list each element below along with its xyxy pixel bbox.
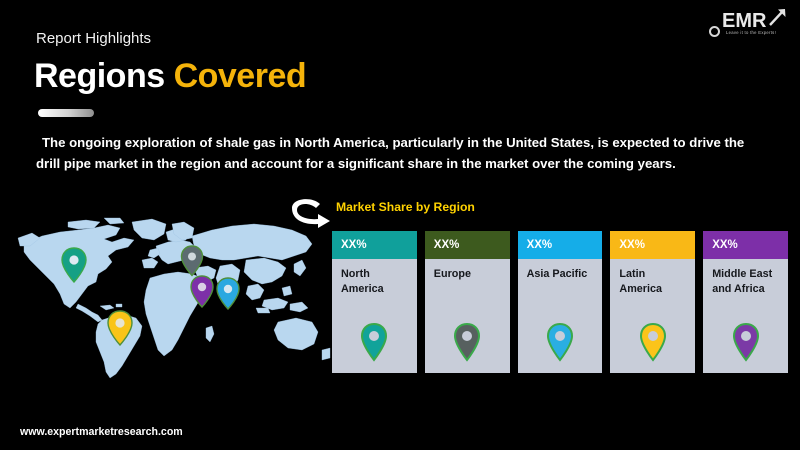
card-region-name: Asia Pacific — [518, 259, 603, 282]
map-pin-icon — [731, 322, 761, 362]
region-card-europe[interactable]: XX% Europe — [425, 231, 510, 373]
card-region-name: Middle East and Africa — [703, 259, 788, 297]
curved-arrow-icon — [286, 196, 334, 232]
region-card-latin-america[interactable]: XX% Latin America — [610, 231, 695, 373]
region-cards: XX% North America XX% Europe XX% Asia Pa — [332, 231, 788, 373]
logo-ring-icon — [709, 26, 720, 37]
map-landmasses — [18, 218, 330, 378]
map-pin-asia-pacific[interactable] — [217, 278, 239, 309]
page-title-accent: Covered — [174, 57, 307, 95]
card-pin-wrap — [703, 322, 788, 373]
slide-root: EMR Leave it to the Experts! Report High… — [0, 0, 800, 450]
card-share-header: XX% — [332, 231, 417, 259]
card-pin-wrap — [332, 322, 417, 373]
logo-arrow-icon — [766, 6, 788, 28]
logo-tagline: Leave it to the Experts! — [726, 30, 776, 35]
card-pin-wrap — [610, 322, 695, 373]
page-title-main: Regions — [34, 57, 165, 95]
card-region-name: North America — [332, 259, 417, 297]
card-share-header: XX% — [518, 231, 603, 259]
card-region-name: Latin America — [610, 259, 695, 297]
card-region-name: Europe — [425, 259, 510, 282]
title-underline-rule — [38, 109, 94, 117]
region-card-middle-east-africa[interactable]: XX% Middle East and Africa — [703, 231, 788, 373]
region-card-north-america[interactable]: XX% North America — [332, 231, 417, 373]
highlight-paragraph: The ongoing exploration of shale gas in … — [36, 132, 768, 174]
callout-label: Market Share by Region — [336, 200, 475, 214]
world-map-svg — [16, 216, 332, 382]
map-pin-icon — [638, 322, 668, 362]
map-pin-icon — [452, 322, 482, 362]
map-pin-icon — [545, 322, 575, 362]
emr-logo: EMR Leave it to the Experts! — [704, 6, 790, 42]
world-map — [16, 216, 332, 382]
card-share-header: XX% — [425, 231, 510, 259]
kicker-text: Report Highlights — [36, 30, 151, 47]
footer-website[interactable]: www.expertmarketresearch.com — [20, 426, 183, 438]
card-pin-wrap — [425, 322, 510, 373]
page-title: Regions Covered — [34, 57, 306, 96]
card-share-header: XX% — [703, 231, 788, 259]
card-share-header: XX% — [610, 231, 695, 259]
map-pin-icon — [359, 322, 389, 362]
region-card-asia-pacific[interactable]: XX% Asia Pacific — [518, 231, 603, 373]
card-pin-wrap — [518, 322, 603, 373]
